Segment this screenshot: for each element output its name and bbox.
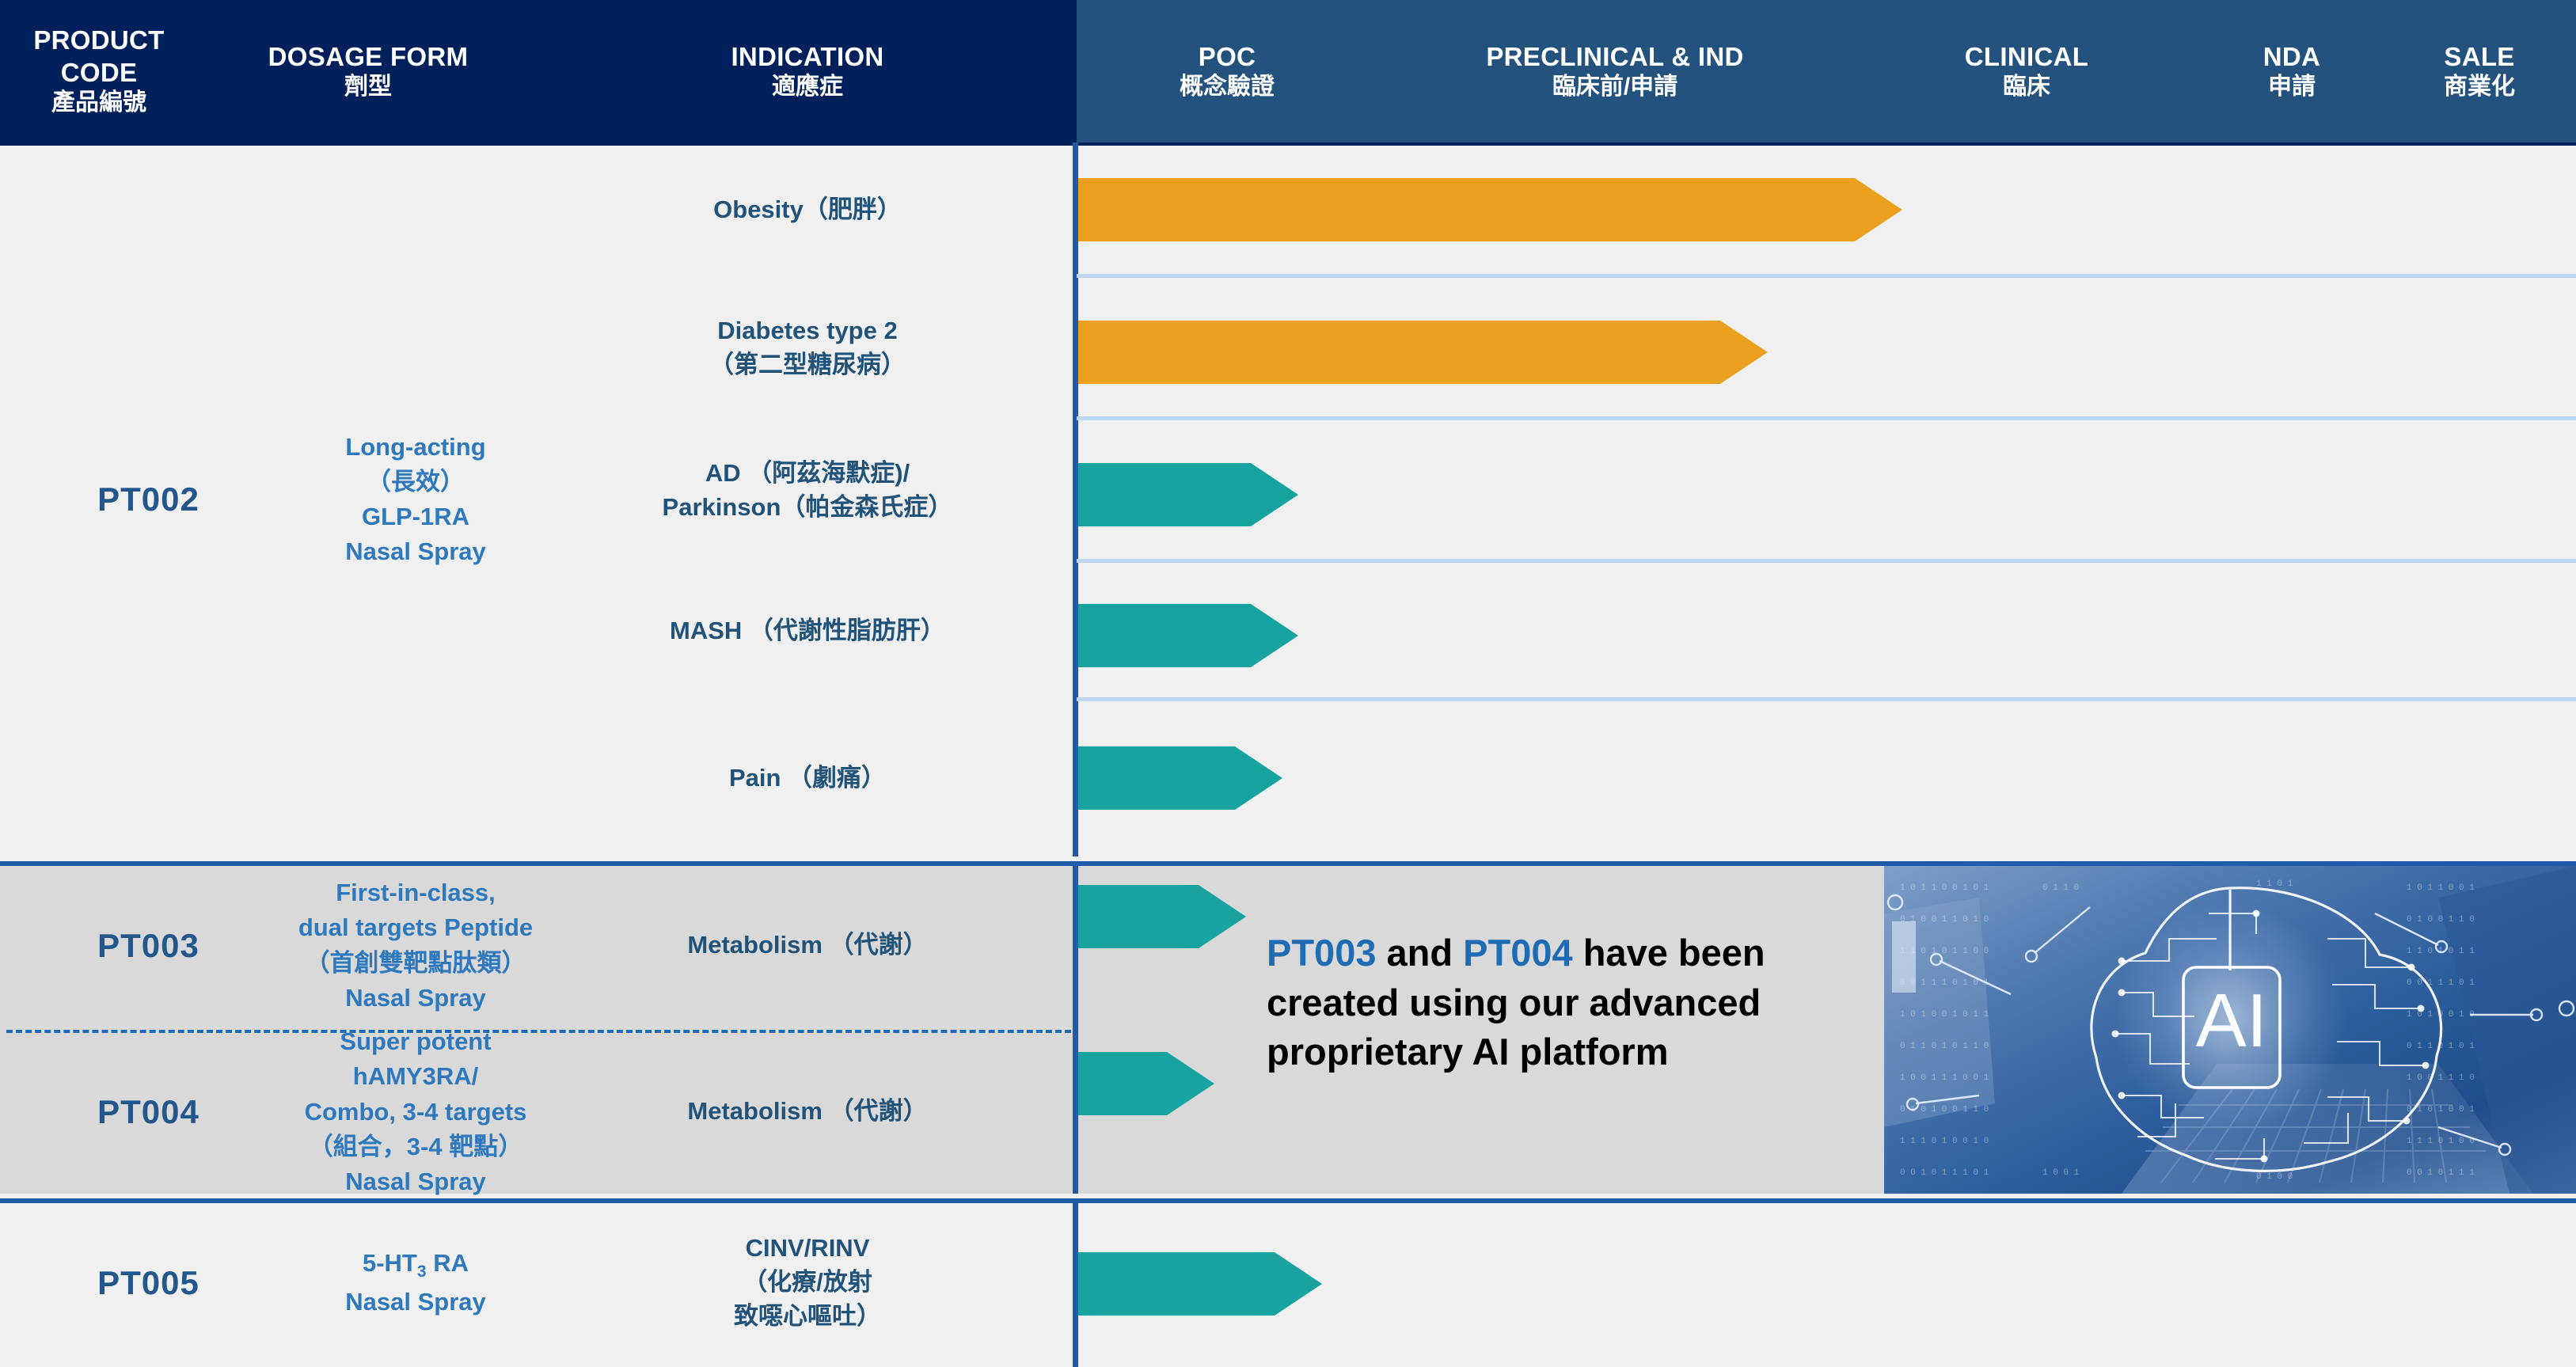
svg-text:0 1 1 0 1 0 1 1 0: 0 1 1 0 1 0 1 1 0 — [1900, 1042, 1989, 1051]
progress-bar-ad-parkinson — [1078, 463, 1298, 526]
ai-callout-line1-post: have been — [1573, 932, 1765, 974]
product-code-pt002: PT002 — [0, 142, 297, 856]
ai-image-label: AI — [2196, 978, 2268, 1063]
indication-label-line: AD （阿茲海默症)/ — [663, 457, 953, 491]
arrow-shape-icon — [1078, 1252, 1322, 1316]
svg-text:0 0 1 1 1 0 1: 0 0 1 1 1 0 1 — [2407, 978, 2475, 988]
product-code-label: PT003 — [97, 927, 199, 965]
subscript-3: 3 — [417, 1263, 427, 1282]
ai-brain-circuit-illustration-icon: 1 0 1 1 0 0 1 0 1 0 1 0 0 1 1 0 1 0 1 1 … — [1884, 866, 2576, 1194]
header-dosage-form-zh: 劑型 — [344, 73, 392, 102]
dosage-form-pt005: 5-HT3 RA Nasal Spray — [297, 1198, 534, 1367]
arrow-shape-icon — [1078, 321, 1768, 384]
ai-callout-code-pt003: PT003 — [1267, 932, 1376, 974]
header-indication-zh: 適應症 — [772, 73, 843, 102]
dosage-line: dual targets Peptide — [298, 910, 533, 945]
indication-label-line: Parkinson（帕金森氏症） — [663, 491, 953, 525]
ai-platform-image: 1 0 1 1 0 0 1 0 1 0 1 0 0 1 1 0 1 0 1 1 … — [1884, 866, 2576, 1194]
pipeline-chart: PRODUCT CODE 產品編號 DOSAGE FORM 劑型 INDICAT… — [0, 0, 2576, 1367]
product-code-pt005: PT005 — [0, 1198, 297, 1367]
header-stage-poc-en: POC — [1199, 41, 1256, 73]
product-code-pt003: PT003 — [0, 861, 297, 1030]
indication-pt003-metabolism: Metabolism （代謝） — [538, 861, 1077, 1030]
ai-callout-text: PT003 and PT004 have been created using … — [1267, 928, 1884, 1077]
arrow-shape-icon — [1078, 178, 1902, 241]
svg-text:0 1 0 0 1 1 0: 0 1 0 0 1 1 0 — [2407, 915, 2475, 925]
progress-bar-diabetes — [1078, 321, 1768, 384]
svg-text:1 1 0 1: 1 1 0 1 — [2256, 879, 2293, 889]
ai-callout-line3: proprietary AI platform — [1267, 1027, 1884, 1077]
svg-text:1 0 1 1 0 0 1: 1 0 1 1 0 0 1 — [2407, 883, 2475, 893]
ai-callout-and: and — [1376, 932, 1463, 974]
ai-callout-line2: created using our advanced — [1267, 978, 1884, 1028]
dosage-line: First-in-class, — [298, 875, 533, 910]
dosage-line: Nasal Spray — [345, 534, 486, 569]
dosage-line: GLP-1RA — [345, 499, 486, 534]
svg-text:1 1 1 0 1 0 0: 1 1 1 0 1 0 0 — [2407, 1137, 2475, 1146]
svg-text:0 0 1 0 1 1 1: 0 0 1 0 1 1 1 — [2407, 1168, 2475, 1178]
svg-text:1 0 0 1: 1 0 0 1 — [2042, 1168, 2080, 1178]
indication-mash: MASH （代謝性脂肪肝） — [538, 562, 1077, 701]
header-indication-en: INDICATION — [731, 41, 883, 73]
progress-bar-pain — [1078, 746, 1282, 810]
row-separator — [1077, 697, 2576, 701]
header-product-code: PRODUCT CODE 產品編號 — [0, 0, 198, 142]
header-stage-nda: NDA 申請 — [2201, 0, 2383, 142]
indication-label: Metabolism （代謝） — [687, 928, 927, 963]
header-stage-clinical: CLINICAL 臨床 — [1852, 0, 2201, 142]
dosage-form-pt002: Long-acting （長效） GLP-1RA Nasal Spray — [297, 142, 534, 856]
header-dosage-form: DOSAGE FORM 劑型 — [198, 0, 538, 142]
header-stage-nda-zh: 申請 — [2268, 73, 2316, 102]
header-stage-preclinical-zh: 臨床前/申請 — [1552, 73, 1677, 102]
arrow-shape-icon — [1078, 463, 1298, 526]
indication-label-line: Diabetes type 2 — [709, 314, 906, 348]
svg-text:0 0 1 0 1 1 1 0 1: 0 0 1 0 1 1 1 0 1 — [1900, 1168, 1989, 1178]
dosage-line: Long-acting — [345, 430, 486, 465]
dosage-line: Super potent hAMY3RA/ — [297, 1024, 534, 1094]
progress-bar-pt005-cinv — [1078, 1252, 1322, 1316]
arrow-shape-icon — [1078, 746, 1282, 810]
svg-text:1 1 1 0 1 0 0 1 0: 1 1 1 0 1 0 0 1 0 — [1900, 1137, 1989, 1146]
dosage-line: （首創雙靶點肽類） — [298, 946, 533, 981]
indication-pt005-cinv-rinv: CINV/RINV （化療/放射 致噁心嘔吐） — [538, 1198, 1077, 1367]
arrow-shape-icon — [1078, 885, 1246, 948]
svg-text:1 0 1 1 0 0 1 0 1: 1 0 1 1 0 0 1 0 1 — [1900, 883, 1989, 893]
dosage-line: Nasal Spray — [345, 1285, 486, 1320]
timeline-spine — [1073, 142, 1078, 856]
progress-bar-mash — [1078, 604, 1298, 667]
header-product-code-en-line1: PRODUCT — [33, 25, 164, 56]
header-stage-sale-zh: 商業化 — [2444, 73, 2515, 102]
dosage-line: （組合，3-4 靶點） — [297, 1130, 534, 1164]
dosage-form-pt004: Super potent hAMY3RA/ Combo, 3-4 targets… — [297, 1030, 534, 1194]
dosage-line-5ht3ra: 5-HT3 RA — [345, 1246, 486, 1284]
ai-callout-panel: PT003 and PT004 have been created using … — [1267, 861, 1884, 1194]
svg-text:0 0 1 1 1 0 1 0 1: 0 0 1 1 1 0 1 0 1 — [1900, 978, 1989, 988]
header-indication: INDICATION 適應症 — [538, 0, 1077, 142]
indication-label: MASH （代謝性脂肪肝） — [670, 614, 945, 648]
indication-pain: Pain （劇痛） — [538, 701, 1077, 856]
indication-label-line: （化療/放射 — [734, 1266, 881, 1300]
header-stage-nda-en: NDA — [2263, 41, 2320, 73]
header-stage-preclinical: PRECLINICAL & IND 臨床前/申請 — [1377, 0, 1852, 142]
svg-text:1 1 0 1 0 1 1 0 0: 1 1 0 1 0 1 1 0 0 — [1900, 947, 1989, 956]
row-separator — [1077, 416, 2576, 420]
product-block-pt005: PT005 5-HT3 RA Nasal Spray CINV/RINV （化療… — [0, 1198, 2576, 1367]
header-stage-sale-en: SALE — [2444, 41, 2514, 73]
product-block-pt003-pt004: PT003 First-in-class, dual targets Pepti… — [0, 861, 2576, 1194]
indication-obesity: Obesity（肥胖） — [538, 142, 1077, 277]
indication-label: Pain （劇痛） — [729, 761, 886, 796]
progress-bar-pt004-metabolism — [1078, 1052, 1214, 1115]
dosage-line: Nasal Spray — [297, 1164, 534, 1199]
progress-bar-obesity — [1078, 178, 1902, 241]
indication-label-line: 致噁心嘔吐） — [734, 1300, 881, 1334]
header-product-code-zh: 產品編號 — [51, 89, 146, 118]
arrow-shape-icon — [1078, 604, 1298, 667]
row-separator — [1077, 559, 2576, 563]
indication-label: Obesity（肥胖） — [713, 193, 902, 227]
header-product-code-en-line2: CODE — [61, 57, 138, 89]
product-code-label: PT004 — [97, 1093, 199, 1131]
arrow-shape-icon — [1078, 1052, 1214, 1115]
indication-diabetes: Diabetes type 2 （第二型糖尿病） — [538, 277, 1077, 420]
header-stage-poc: POC 概念驗證 — [1077, 0, 1377, 142]
header-stage-clinical-zh: 臨床 — [2003, 73, 2050, 102]
svg-text:0 1 0 0 1 1 0 1 0: 0 1 0 0 1 1 0 1 0 — [1900, 915, 1989, 925]
dosage-form-pt003: First-in-class, dual targets Peptide （首創… — [297, 861, 534, 1030]
header-stage-preclinical-en: PRECLINICAL & IND — [1486, 41, 1743, 73]
row-separator — [1077, 274, 2576, 278]
indication-label: Metabolism （代謝） — [687, 1095, 927, 1129]
svg-text:1 0 1 0 0 1 0 1 1: 1 0 1 0 0 1 0 1 1 — [1900, 1010, 1989, 1020]
indication-label-line: CINV/RINV — [734, 1232, 881, 1266]
product-block-pt002: PT002 Long-acting （長效） GLP-1RA Nasal Spr… — [0, 142, 2576, 856]
svg-text:1 0 0 1 1 1 0 0 1: 1 0 0 1 1 1 0 0 1 — [1900, 1073, 1989, 1083]
dosage-line: （長效） — [345, 465, 486, 499]
header-dosage-form-en: DOSAGE FORM — [268, 41, 469, 73]
header-stage-poc-zh: 概念驗證 — [1180, 73, 1275, 102]
svg-text:0 1 0 0: 0 1 0 0 — [2256, 1172, 2293, 1182]
header-stage-sale: SALE 商業化 — [2383, 0, 2576, 142]
header-stage-clinical-en: CLINICAL — [1965, 41, 2088, 73]
pipeline-body: PT002 Long-acting （長效） GLP-1RA Nasal Spr… — [0, 142, 2576, 1367]
product-code-label: PT002 — [97, 480, 199, 518]
svg-text:1 0 0 1 1 1 0: 1 0 0 1 1 1 0 — [2407, 1073, 2475, 1083]
svg-text:0 1 1 0: 0 1 1 0 — [2042, 883, 2079, 893]
progress-bar-pt003-metabolism — [1078, 885, 1246, 948]
ai-callout-line1: PT003 and PT004 have been — [1267, 928, 1884, 978]
indication-pt004-metabolism: Metabolism （代謝） — [538, 1030, 1077, 1194]
chart-header: PRODUCT CODE 產品編號 DOSAGE FORM 劑型 INDICAT… — [0, 0, 2576, 142]
timeline-spine — [1073, 1198, 1078, 1367]
timeline-spine — [1073, 861, 1078, 1194]
product-code-label: PT005 — [97, 1264, 199, 1302]
product-code-pt004: PT004 — [0, 1030, 297, 1194]
indication-label-line: （第二型糖尿病） — [709, 348, 906, 382]
indication-ad-parkinson: AD （阿茲海默症)/ Parkinson（帕金森氏症） — [538, 420, 1077, 562]
dosage-line: Combo, 3-4 targets — [297, 1095, 534, 1130]
dosage-line: Nasal Spray — [298, 981, 533, 1016]
ai-callout-code-pt004: PT004 — [1463, 932, 1572, 974]
